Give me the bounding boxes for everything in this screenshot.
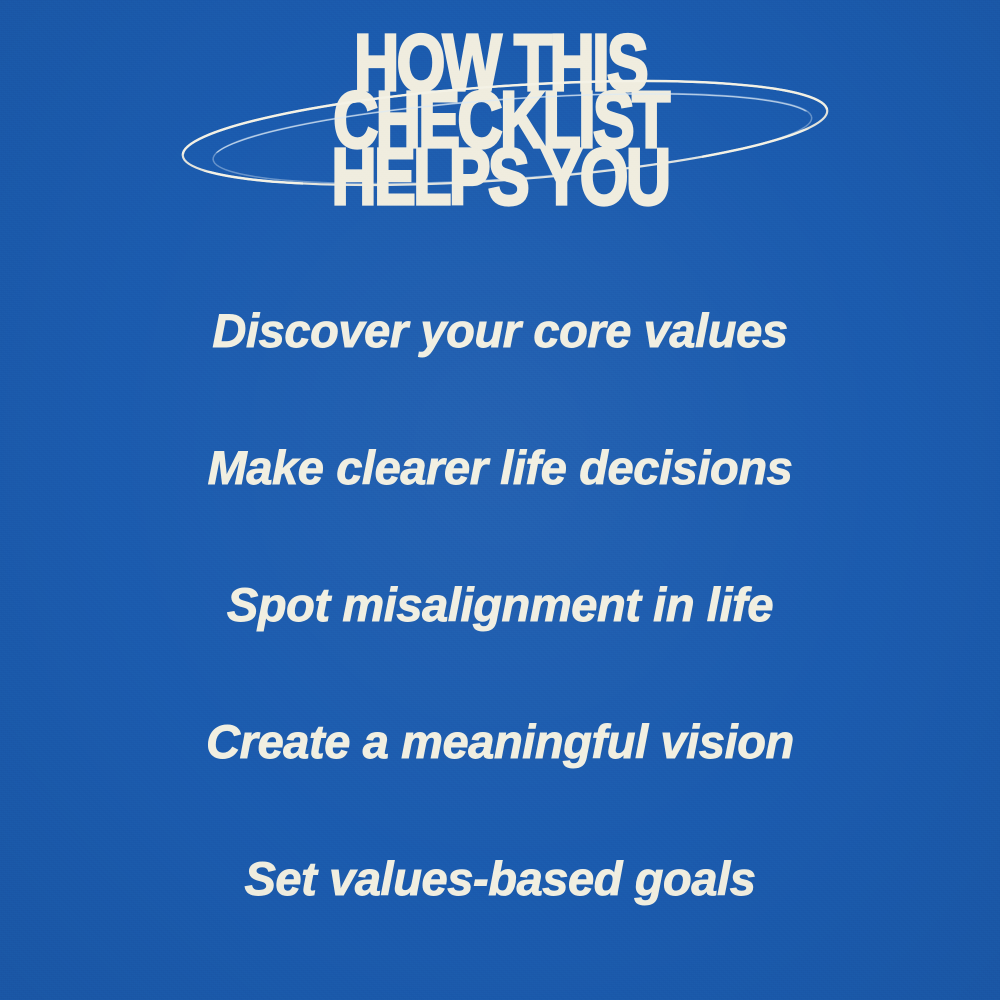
checklist-items: Discover your core values Make clearer l… bbox=[0, 262, 1000, 947]
list-item-label: Discover your core values bbox=[212, 262, 787, 399]
list-item: Create a meaningful vision bbox=[0, 673, 1000, 810]
list-item-label: Make clearer life decisions bbox=[208, 399, 793, 536]
title-line-3-text: HELPS YOU bbox=[331, 148, 668, 205]
list-item: Discover your core values bbox=[0, 262, 1000, 399]
poster-canvas: HOW THIS CHECKLIST HELPS YOU bbox=[0, 0, 1000, 1000]
list-item-label: Spot misalignment in life bbox=[227, 536, 773, 673]
list-item-label: Set values-based goals bbox=[244, 810, 755, 947]
list-item: Set values-based goals bbox=[0, 810, 1000, 947]
list-item: Spot misalignment in life bbox=[0, 536, 1000, 673]
list-item-label: Create a meaningful vision bbox=[206, 673, 794, 810]
page-title: HOW THIS CHECKLIST HELPS YOU bbox=[0, 34, 1000, 205]
list-item: Make clearer life decisions bbox=[0, 399, 1000, 536]
title-line-3: HELPS YOU bbox=[0, 148, 1000, 205]
